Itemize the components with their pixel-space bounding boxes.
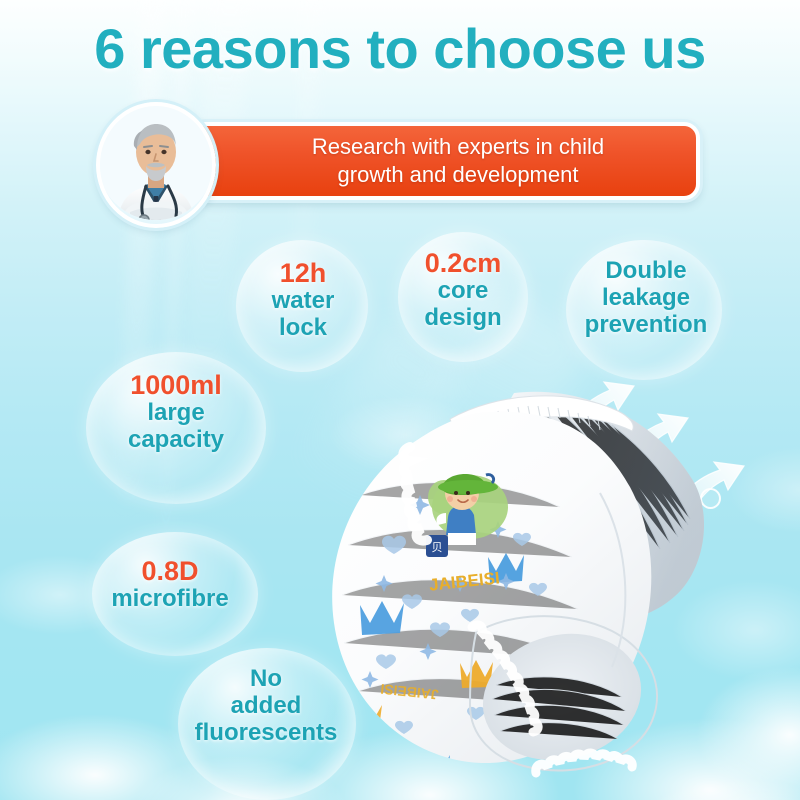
feature-sub-line: Double [566,258,726,285]
feature-highlight: 0.2cm [396,248,530,278]
doctor-photo-icon [100,106,212,224]
feature-sub-line: prevention [566,312,726,339]
diaper-front-body: 贝 JAIBEISI JAIBEISI [332,412,657,779]
feature-highlight: 1000ml [94,370,258,400]
feature-sub-line: microfibre [86,586,254,613]
page-title: 6 reasons to choose us [0,16,800,81]
feature-water-lock: 12h water lock [248,258,358,342]
feature-sub-line: large [94,400,258,427]
expert-banner: Research with experts in child growth an… [0,108,800,218]
feature-sub-line: No [156,666,376,693]
infographic-poster: 6 reasons to choose us [0,0,800,800]
feature-sub-line: capacity [94,427,258,454]
feature-microfibre: 0.8D microfibre [86,556,254,613]
feature-leakage-prevention: Double leakage prevention [566,258,726,339]
feature-large-capacity: 1000ml large capacity [94,370,258,454]
feature-sub-line: added [156,693,376,720]
feature-sub-line: leakage [566,285,726,312]
feature-highlight: 0.8D [86,556,254,586]
expert-banner-text: Research with experts in child growth an… [286,133,604,189]
feature-core-design: 0.2cm core design [396,248,530,332]
expert-banner-pill: Research with experts in child growth an… [190,122,700,200]
feature-sub-line: fluorescents [156,720,376,747]
feature-sub-line: water [248,288,358,315]
feature-highlight: 12h [248,258,358,288]
banner-line-1: Research with experts in child [312,134,604,159]
feature-no-fluorescents: No added fluorescents [156,666,376,747]
doctor-avatar [96,102,216,228]
feature-sub-line: core [396,278,530,305]
banner-line-2: growth and development [338,162,579,187]
feature-sub-line: lock [248,315,358,342]
svg-text:贝: 贝 [432,542,443,554]
feature-sub-line: design [396,305,530,332]
